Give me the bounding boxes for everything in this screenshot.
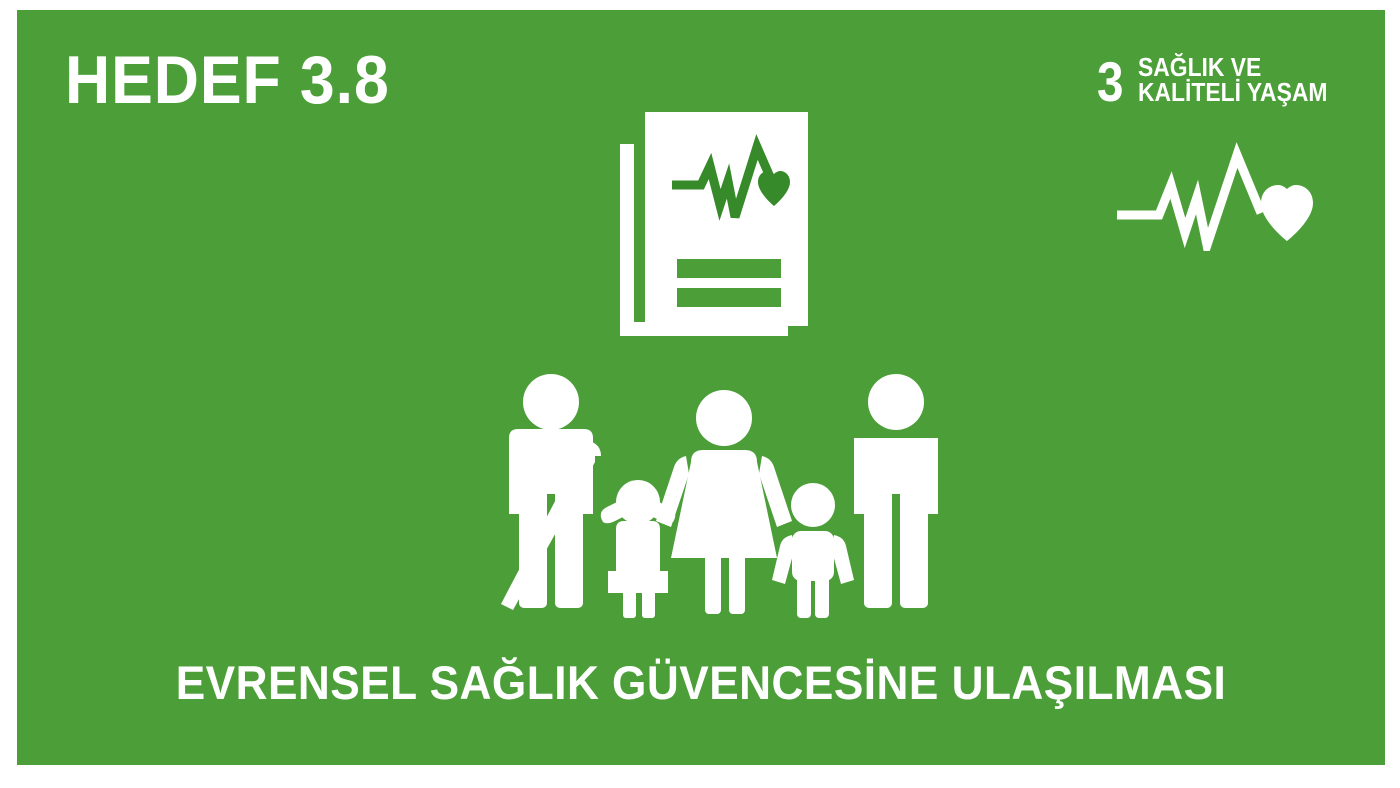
woman-figure (656, 390, 792, 614)
girl-child-figure (601, 480, 676, 618)
page-title: HEDEF 3.8 (65, 46, 390, 114)
sdg-badge: 3 SAĞLIK VE KALİTELİ YAŞAM (1097, 55, 1327, 265)
green-panel: HEDEF 3.8 3 SAĞLIK VE KALİTELİ YAŞAM (17, 10, 1385, 765)
elderly-man-with-cane-figure (501, 374, 601, 610)
medical-report-document-icon (645, 112, 808, 326)
sdg-title-line2: KALİTELİ YAŞAM (1138, 80, 1327, 105)
sdg-badge-row: 3 SAĞLIK VE KALİTELİ YAŞAM (1097, 55, 1327, 107)
poster-caption: EVRENSEL SAĞLIK GÜVENCESİNE ULAŞILMASI (58, 655, 1344, 711)
heartbeat-heart-icon (1111, 141, 1321, 251)
poster-root: HEDEF 3.8 3 SAĞLIK VE KALİTELİ YAŞAM (0, 0, 1400, 788)
sdg-number: 3 (1097, 57, 1123, 107)
man-figure (854, 374, 938, 608)
boy-child-figure (772, 483, 854, 618)
sdg-title: SAĞLIK VE KALİTELİ YAŞAM (1138, 55, 1353, 105)
back-document-outline (620, 144, 788, 336)
